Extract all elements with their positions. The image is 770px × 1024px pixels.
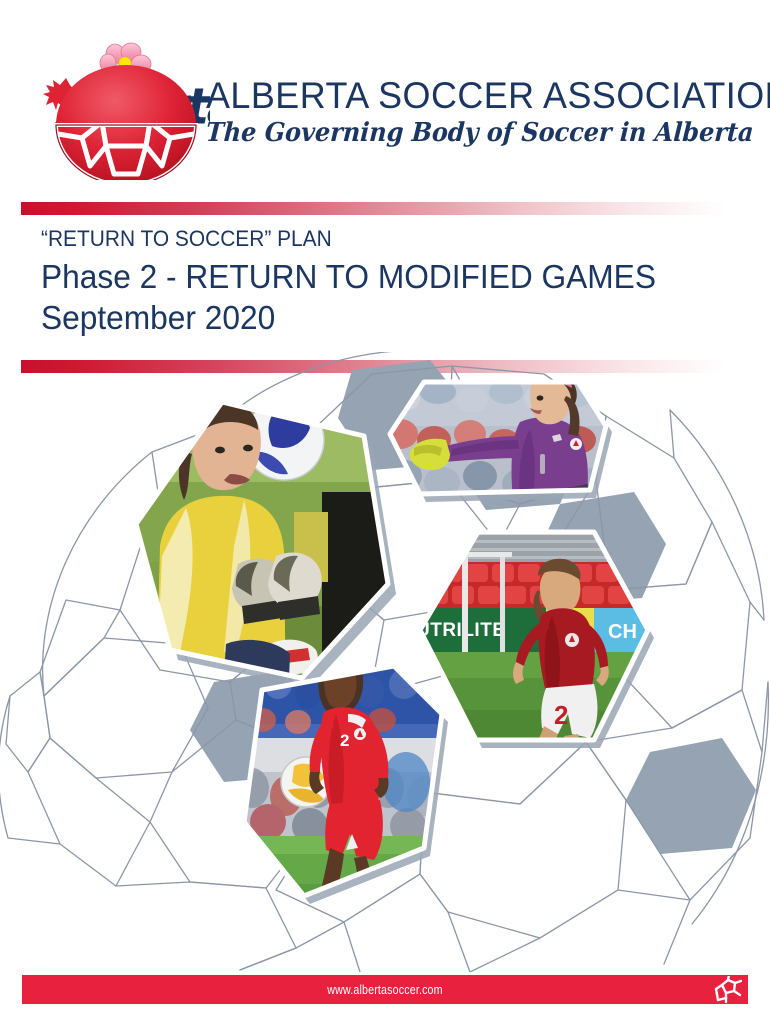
svg-text:CH: CH — [608, 621, 637, 643]
photo-player-blue: 2 — [232, 662, 452, 912]
page-date: September 2020 — [41, 297, 713, 338]
photo-content-keeper-yellow — [126, 396, 402, 706]
footer-bar: www.albertasoccer.com — [22, 975, 748, 1004]
plan-kicker: “RETURN TO SOCCER” PLAN — [41, 226, 706, 252]
alberta-soccer-logo: Alberta — [42, 42, 210, 180]
organization-text: ALBERTA SOCCER ASSOCIATION The Governing… — [206, 76, 736, 149]
page-header: Alberta — [0, 0, 770, 190]
organization-name: ALBERTA SOCCER ASSOCIATION — [206, 76, 720, 116]
footer-website-url[interactable]: www.albertasoccer.com — [87, 975, 682, 1004]
soccer-ball-panel-mark — [712, 976, 742, 1003]
organization-tagline: The Governing Body of Soccer in Alberta — [205, 117, 695, 149]
svg-text:2: 2 — [340, 731, 349, 750]
svg-text:2: 2 — [554, 700, 568, 730]
photo-content-player-blue: 2 — [232, 662, 452, 912]
photo-keeper-purple — [380, 378, 616, 514]
cover-page: Alberta — [0, 0, 770, 1024]
title-block: “RETURN TO SOCCER” PLAN Phase 2 - RETURN… — [41, 226, 741, 338]
page-title: Phase 2 - RETURN TO MODIFIED GAMES — [41, 256, 713, 297]
svg-text:UTRILITE: UTRILITE — [416, 620, 506, 641]
gradient-rule-top — [21, 202, 726, 215]
soccer-ball-dome-icon — [56, 65, 196, 180]
photo-keeper-yellow — [126, 396, 402, 706]
